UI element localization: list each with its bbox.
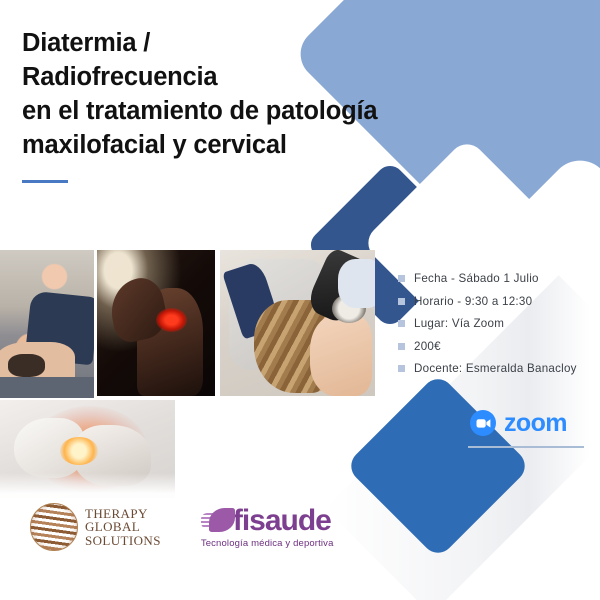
zoom-underline-rule [468,446,584,448]
bullet-square-icon [398,320,405,327]
title-line-1: Diatermia / [22,26,442,60]
fisaude-wordmark: fisaude [233,506,331,536]
photo-neck-pain-illustration [97,250,215,396]
detail-precio: 200€ [414,340,441,353]
therapy-global-solutions-logo: THERAPY GLOBAL SOLUTIONS [30,503,161,551]
promotional-poster: Diatermia / Radiofrecuencia en el tratam… [0,0,600,600]
bullet-square-icon [398,298,405,305]
list-item: 200€ [398,340,577,353]
list-item: Docente: Esmeralda Banacloy [398,362,577,375]
detail-horario: Horario - 9:30 a 12:30 [414,295,532,308]
event-details-list: Fecha - Sábado 1 Julio Horario - 9:30 a … [398,272,577,385]
photo-tmj-joint-anatomy [0,400,175,498]
list-item: Fecha - Sábado 1 Julio [398,272,577,285]
detail-docente: Docente: Esmeralda Banacloy [414,362,577,375]
title-line-4: maxilofacial y cervical [22,128,442,162]
bullet-square-icon [398,275,405,282]
zoom-logo: zoom [470,410,567,436]
partner-logos: THERAPY GLOBAL SOLUTIONS fisaude Tecnolo… [30,503,334,551]
therapy-line-3: SOLUTIONS [85,534,161,547]
fisaude-swoosh [209,508,235,532]
detail-fecha: Fecha - Sábado 1 Julio [414,272,539,285]
detail-lugar: Lugar: Vía Zoom [414,317,504,330]
list-item: Horario - 9:30 a 12:30 [398,295,577,308]
bullet-square-icon [398,365,405,372]
patient-face [310,314,372,396]
joint-flare [60,437,99,464]
list-item: Lugar: Vía Zoom [398,317,577,330]
photo-radiofrequency-ear-treatment [220,250,375,396]
title-line-2: Radiofrecuencia [22,60,442,94]
fisaude-tagline: Tecnología médica y deportiva [201,538,334,549]
fisaude-logo: fisaude Tecnología médica y deportiva [201,506,334,549]
pain-glow-marker [156,308,187,331]
zoom-wordmark: zoom [504,411,567,436]
page-title: Diatermia / Radiofrecuencia en el tratam… [22,26,442,162]
title-line-3: en el tratamiento de patología [22,94,442,128]
fisaude-swoosh-icon [201,508,235,534]
title-accent-rule [22,180,68,183]
fisaude-wordmark-row: fisaude [201,506,334,536]
photo-fade-overlay [0,473,175,498]
video-camera-icon [470,410,496,436]
therapy-line-2: GLOBAL [85,520,161,533]
globe-icon [30,503,78,551]
treatment-table [0,377,94,398]
patient-beard [8,354,46,378]
therapy-logo-text: THERAPY GLOBAL SOLUTIONS [85,507,161,547]
therapy-line-1: THERAPY [85,507,161,520]
practitioner-glove [338,259,375,309]
photo-therapist-treating-patient [0,250,94,398]
bullet-square-icon [398,343,405,350]
